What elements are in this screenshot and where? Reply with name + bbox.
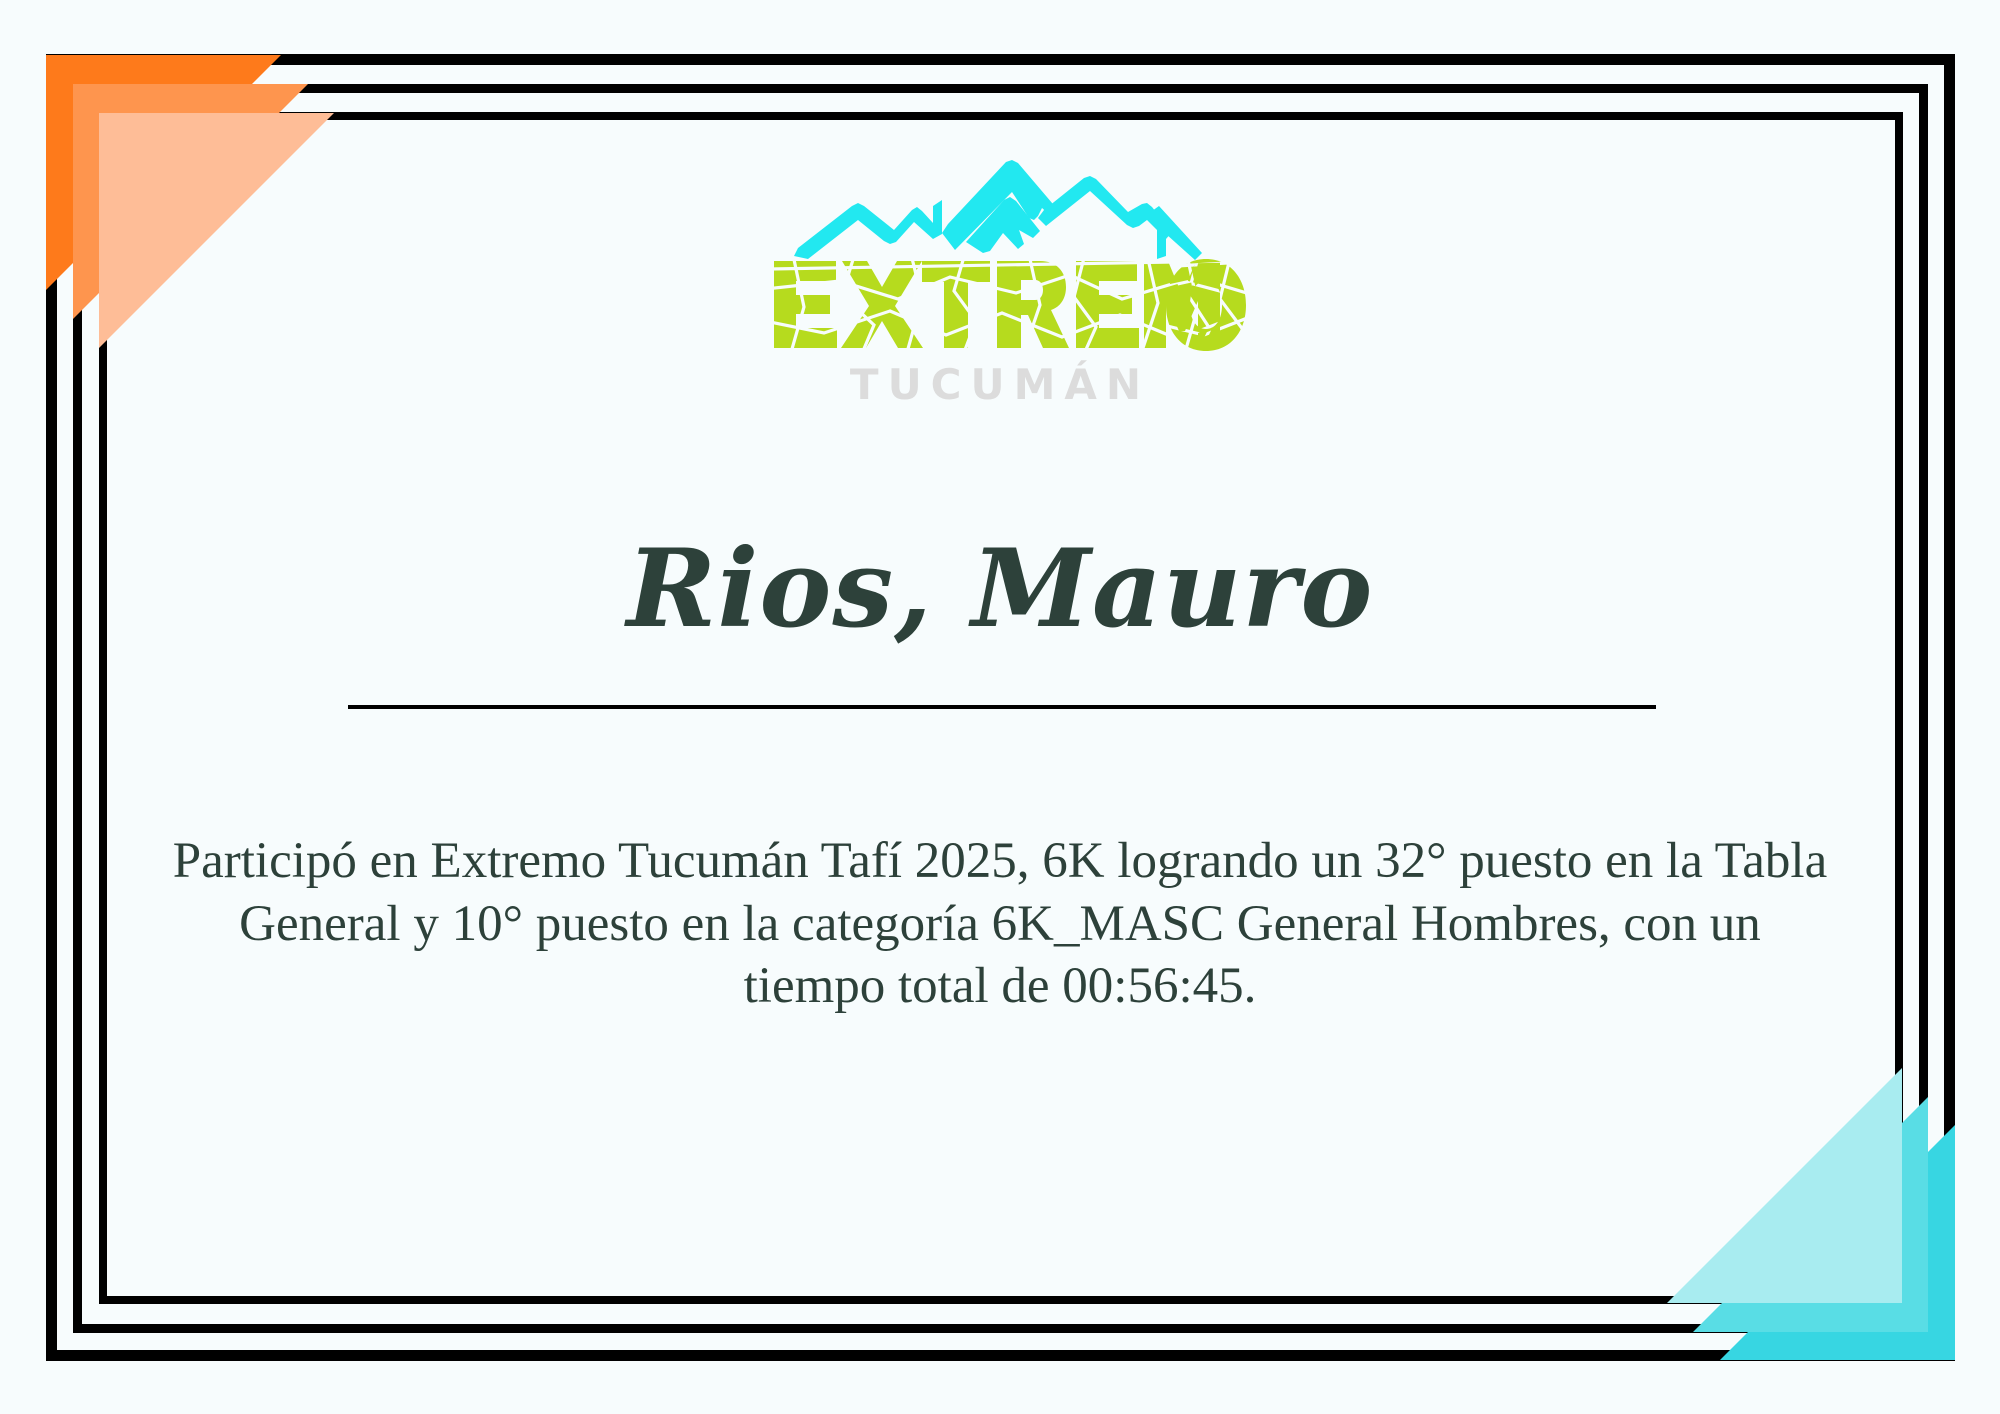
achievement-description: Participó en Extremo Tucumán Tafí 2025, …: [170, 830, 1830, 1018]
name-divider-rule: [348, 705, 1656, 709]
cyan-triangle-middle-icon: [1693, 1097, 1928, 1332]
mountain-range-icon: [790, 160, 1210, 265]
recipient-name: Rios, Mauro: [0, 527, 2000, 651]
certificate-canvas: TUCUMÁN Rios, Mauro Participó en Extremo…: [0, 0, 2000, 1414]
cyan-triangle-inner-icon: [1667, 1068, 1902, 1303]
event-logo: TUCUMÁN: [0, 160, 2000, 406]
logo-subtitle: TUCUMÁN: [850, 364, 1150, 406]
extremo-wordmark-o-icon: [1160, 255, 1260, 360]
cyan-triangle-outer-icon: [1720, 1125, 1955, 1360]
